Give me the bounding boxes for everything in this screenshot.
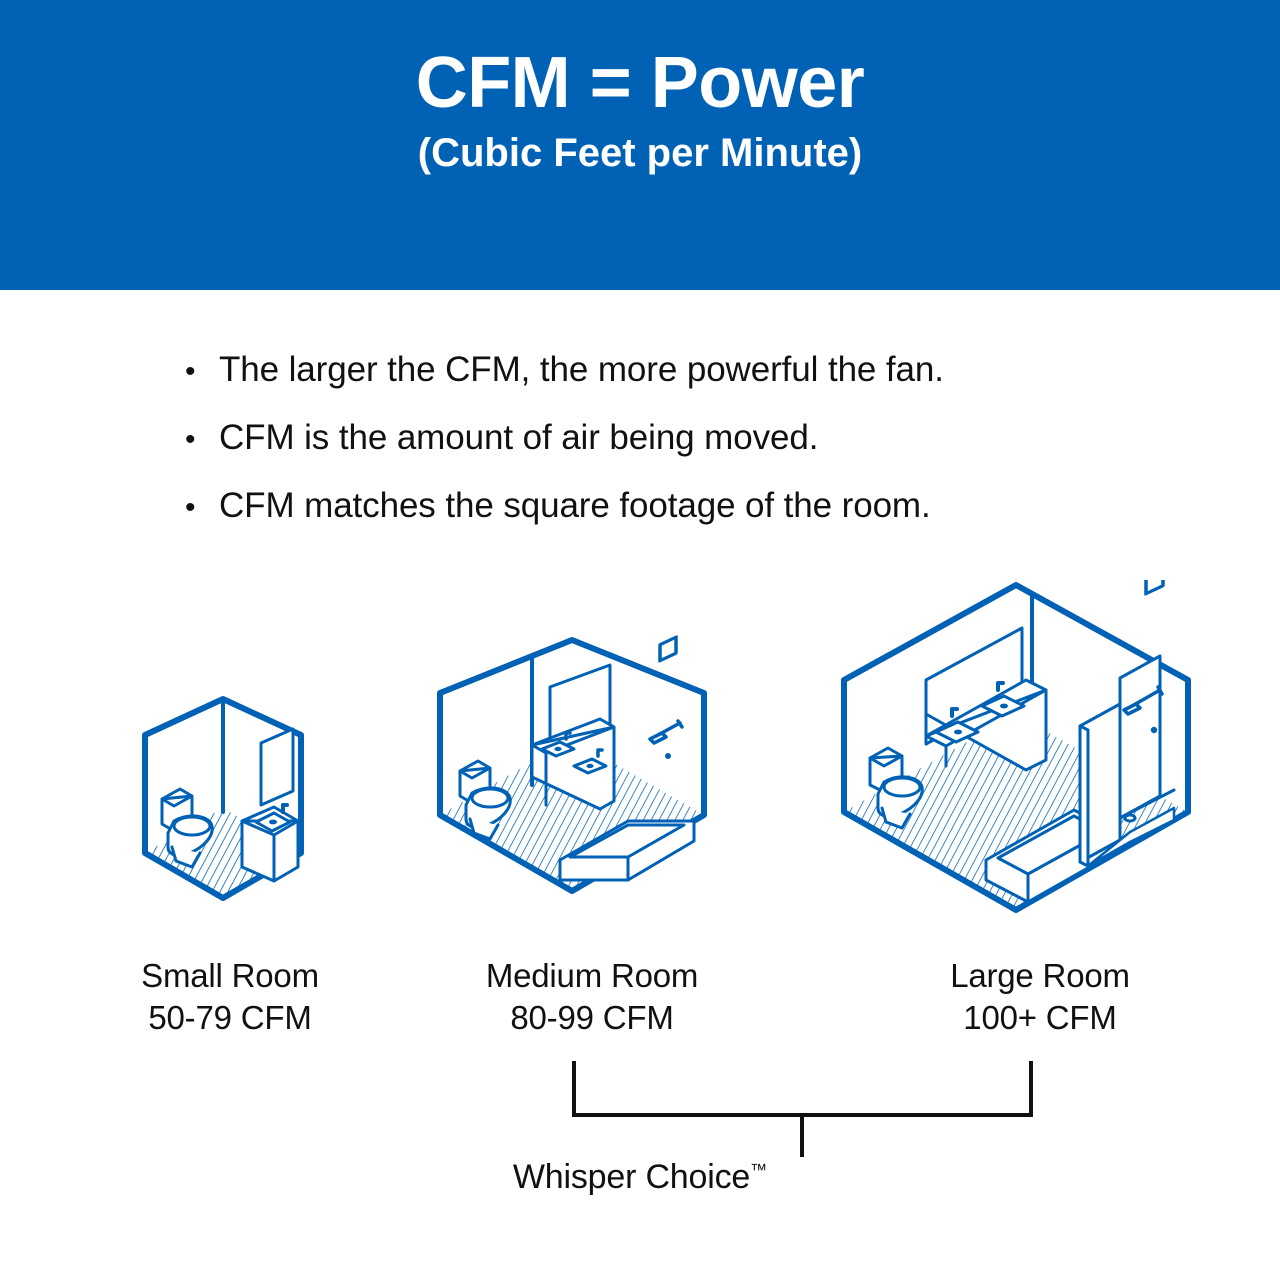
bullet-text: CFM is the amount of air being moved.: [219, 416, 818, 460]
page-title: CFM = Power: [416, 47, 865, 119]
bullet-text: CFM matches the square footage of the ro…: [219, 484, 931, 528]
bullet-marker-icon: •: [185, 350, 219, 394]
bullet-list: • The larger the CFM, the more powerful …: [185, 348, 1185, 552]
bullet-text: The larger the CFM, the more powerful th…: [219, 348, 944, 392]
room-cfm-range: 50-79 CFM: [70, 997, 390, 1039]
room-name: Small Room: [70, 955, 390, 997]
room-label-small: Small Room 50-79 CFM: [70, 955, 390, 1039]
trademark-symbol: ™: [750, 1161, 767, 1180]
list-item: • CFM is the amount of air being moved.: [185, 416, 1185, 462]
page-subtitle: (Cubic Feet per Minute): [418, 133, 862, 173]
brand-name: Whisper Choice™: [0, 1158, 1280, 1197]
room-label-large: Large Room 100+ CFM: [880, 955, 1200, 1039]
bullet-marker-icon: •: [185, 418, 219, 462]
brand-bracket: [0, 1055, 1280, 1165]
brand-name-text: Whisper Choice: [513, 1158, 750, 1196]
room-label-medium: Medium Room 80-99 CFM: [432, 955, 752, 1039]
list-item: • CFM matches the square footage of the …: [185, 484, 1185, 530]
room-cfm-range: 100+ CFM: [880, 997, 1200, 1039]
room-name: Medium Room: [432, 955, 752, 997]
large-room-illustration: [830, 580, 1200, 925]
list-item: • The larger the CFM, the more powerful …: [185, 348, 1185, 394]
room-cfm-range: 80-99 CFM: [432, 997, 752, 1039]
bullet-marker-icon: •: [185, 486, 219, 530]
room-illustrations-group: [0, 580, 1280, 960]
medium-room-illustration: [432, 635, 712, 935]
room-name: Large Room: [880, 955, 1200, 997]
small-room-illustration: [118, 695, 328, 925]
header-band: CFM = Power (Cubic Feet per Minute): [0, 0, 1280, 290]
